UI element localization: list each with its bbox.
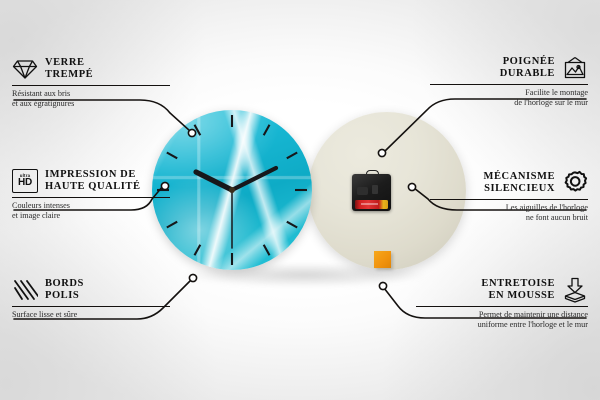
feature-title: VERRE TREMPÉ [45, 57, 93, 82]
foam-spacer [374, 251, 391, 268]
feature-title: BORDS POLIS [45, 278, 84, 303]
gear-icon [562, 170, 588, 196]
feature-description: Surface lisse et sûre [12, 310, 170, 320]
feature-divider [430, 199, 588, 200]
polished-edges-icon [12, 277, 38, 303]
battery [355, 200, 388, 209]
ultra-hd-icon: ultra HD [12, 168, 38, 194]
feature-heading: VERRE TREMPÉ [12, 56, 170, 82]
glass-cross-highlight [152, 110, 312, 270]
feature-divider [416, 306, 588, 307]
mechanism-body [352, 174, 391, 211]
feature-description: Couleurs intenses et image claire [12, 201, 170, 221]
wall-hanger-icon [562, 55, 588, 81]
feature-title: IMPRESSION DE HAUTE QUALITÉ [45, 169, 141, 194]
diamond-icon [12, 56, 38, 82]
feature-poignee-durable: POIGNÉE DURABLE Facilite le montage de l… [430, 55, 588, 108]
feature-divider [12, 306, 170, 307]
feature-divider [12, 85, 170, 86]
feature-title: MÉCANISME SILENCIEUX [484, 171, 555, 196]
feature-heading: POIGNÉE DURABLE [430, 55, 588, 81]
feature-description: Facilite le montage de l'horloge sur le … [430, 88, 588, 108]
clock-front-view [152, 110, 312, 270]
feature-verre-trempe: VERRE TREMPÉ Résistant aux bris et aux é… [12, 56, 170, 109]
foam-spacer-icon [562, 277, 588, 303]
mechanism-detail-right [372, 185, 378, 194]
feature-divider [12, 197, 170, 198]
feature-description: Les aiguilles de l'horloge ne font aucun… [430, 203, 588, 223]
feature-impression-haute-qualite: ultra HD IMPRESSION DE HAUTE QUALITÉ Cou… [12, 168, 170, 221]
feature-heading: MÉCANISME SILENCIEUX [430, 170, 588, 196]
feature-bords-polis: BORDS POLIS Surface lisse et sûre [12, 277, 170, 320]
feature-divider [430, 84, 588, 85]
infographic-canvas: VERRE TREMPÉ Résistant aux bris et aux é… [0, 0, 600, 400]
feature-title: POIGNÉE DURABLE [500, 56, 555, 81]
feature-mecanisme-silencieux: MÉCANISME SILENCIEUX Les aiguilles de l'… [430, 170, 588, 223]
ultra-hd-icon-hd-label: HD [18, 178, 32, 188]
feature-entretoise-en-mousse: ENTRETOISE EN MOUSSE Permet de maintenir… [416, 277, 588, 330]
clock-mechanism [352, 170, 391, 211]
mechanism-detail-left [357, 187, 368, 195]
feature-description: Permet de maintenir une distance uniform… [416, 310, 588, 330]
feature-description: Résistant aux bris et aux égratignures [12, 89, 170, 109]
feature-heading: ENTRETOISE EN MOUSSE [416, 277, 588, 303]
feature-heading: BORDS POLIS [12, 277, 170, 303]
feature-heading: ultra HD IMPRESSION DE HAUTE QUALITÉ [12, 168, 170, 194]
feature-title: ENTRETOISE EN MOUSSE [481, 278, 555, 303]
